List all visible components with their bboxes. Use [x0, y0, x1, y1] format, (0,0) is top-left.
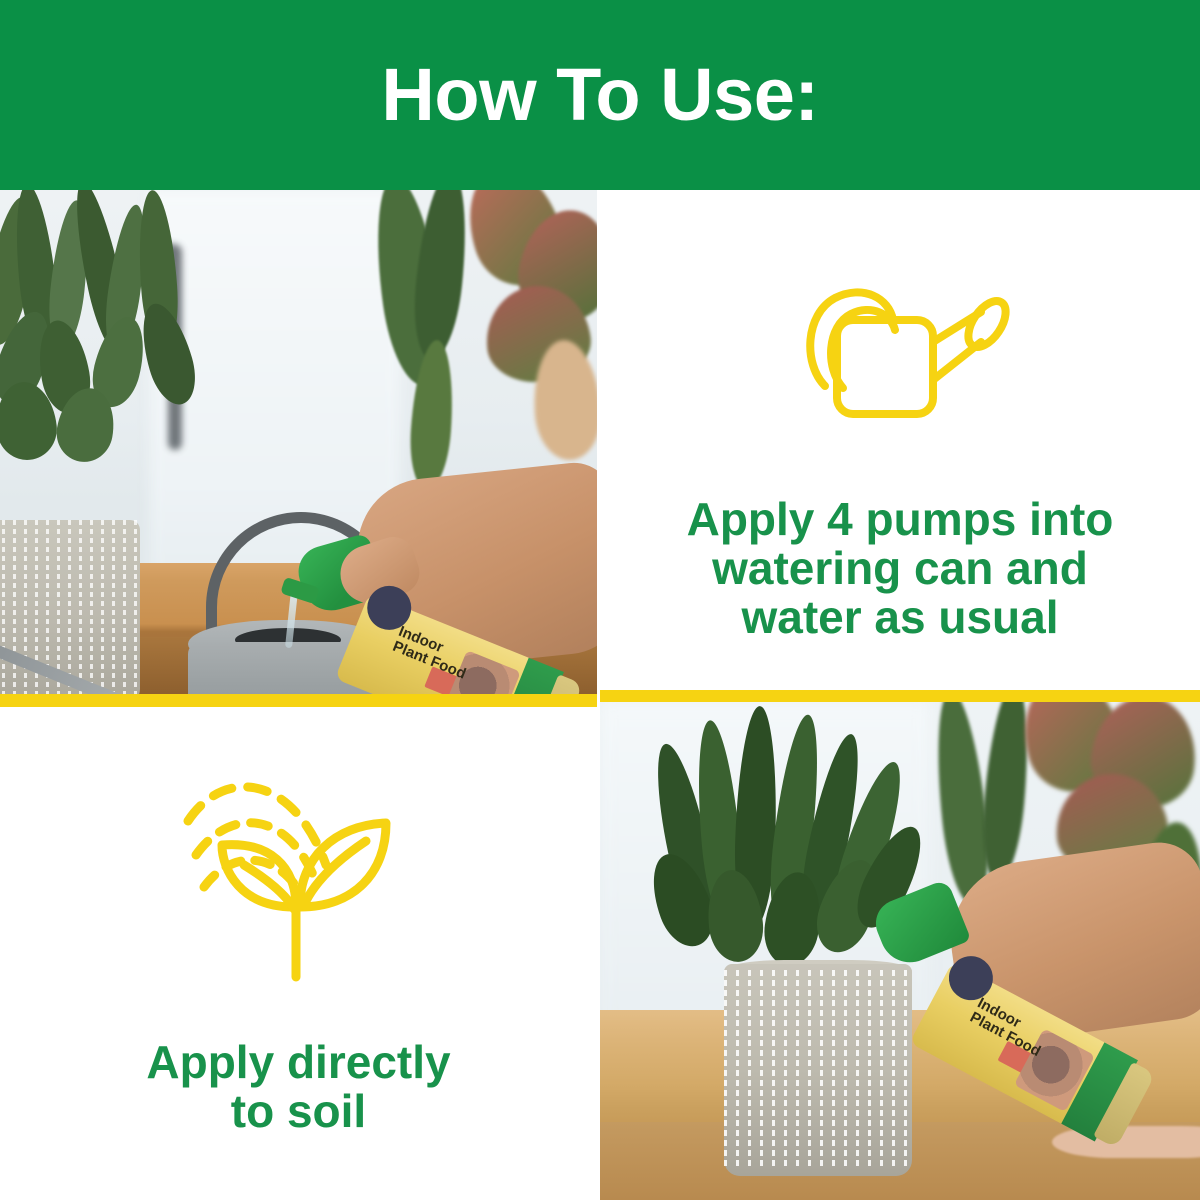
caption-line-2: to soil [84, 1087, 514, 1136]
watering-can-icon [785, 268, 1015, 433]
watering-can-pour-photo: Indoor Plant Food Hand pouring Miracle-G… [0, 190, 597, 695]
yellow-divider-left [0, 694, 597, 707]
step-1-caption-panel: Apply 4 pumps into watering can and wate… [600, 190, 1200, 695]
step-2-photo-panel: Indoor Plant Food Hand spraying Miracle-… [600, 702, 1200, 1200]
step-1-caption: Apply 4 pumps into watering can and wate… [660, 495, 1140, 641]
caption-line-2: watering can and [660, 544, 1140, 593]
yellow-divider-right [600, 690, 1200, 702]
page-title: How To Use: [381, 58, 818, 132]
patterned-ceramic-planter [724, 964, 912, 1176]
step-1-photo-panel: Indoor Plant Food Hand pouring Miracle-G… [0, 190, 597, 695]
caption-line-3: water as usual [660, 593, 1140, 642]
caption-line-1: Apply 4 pumps into [660, 495, 1140, 544]
step-2-caption: Apply directly to soil [84, 1038, 514, 1136]
ceramic-planter-left [0, 520, 140, 695]
caption-line-1: Apply directly [84, 1038, 514, 1087]
sprout-spray-icon [174, 749, 424, 990]
spray-to-soil-photo: Indoor Plant Food Hand spraying Miracle-… [600, 702, 1200, 1200]
how-to-use-infographic: How To Use: [0, 0, 1200, 1200]
header-banner: How To Use: [0, 0, 1200, 190]
step-2-caption-panel: Apply directly to soil [0, 707, 597, 1200]
